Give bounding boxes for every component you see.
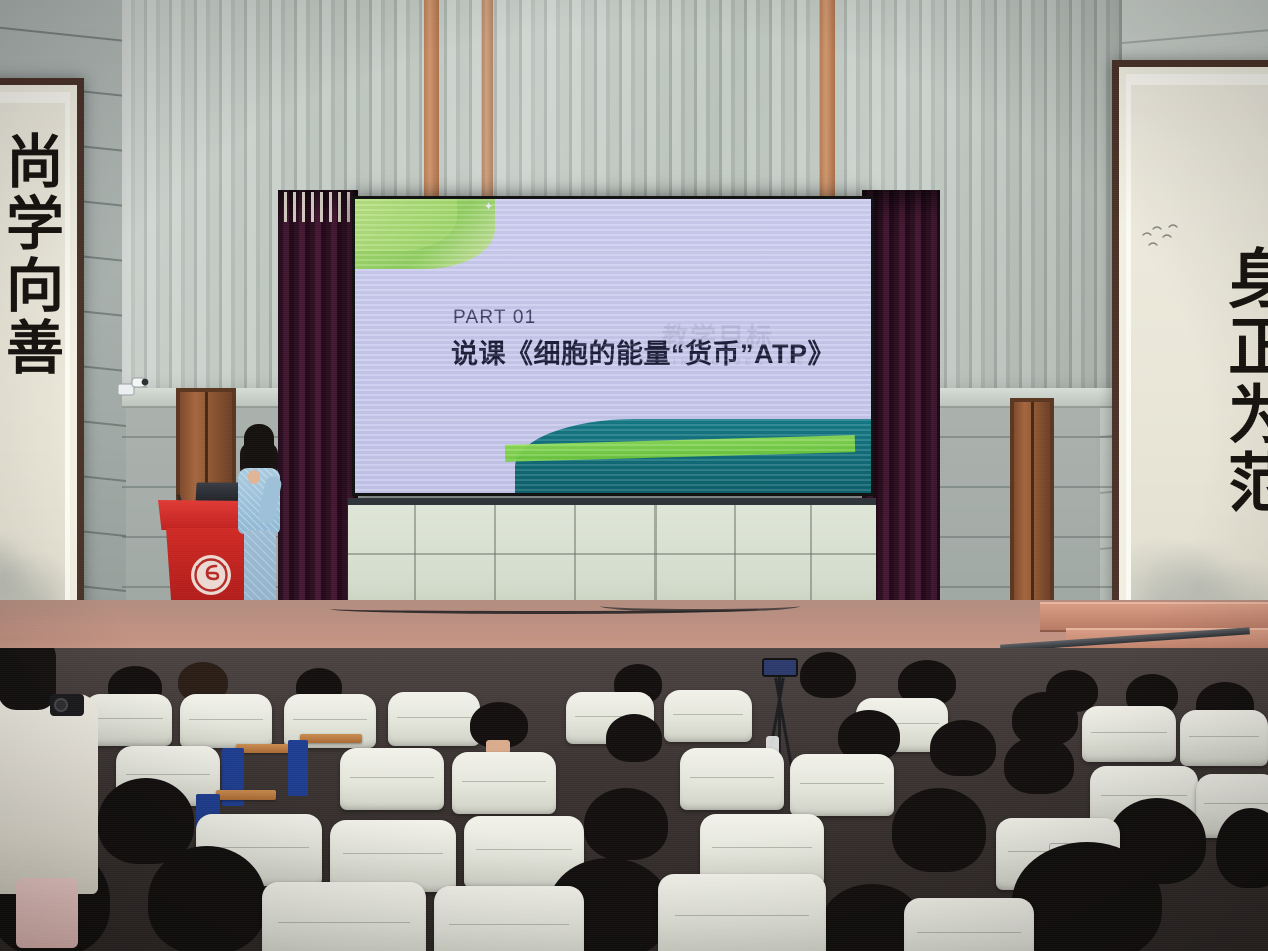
presentation-slide[interactable]: 教学目标 TEACHING OBJECTIVES PART 01 说课《细胞的能… — [355, 199, 871, 493]
audience-head — [148, 846, 266, 951]
slide-part-label: PART 01 — [453, 307, 536, 329]
led-screen[interactable]: 教学目标 TEACHING OBJECTIVES PART 01 说课《细胞的能… — [352, 196, 874, 496]
flying-birds-icon — [1139, 223, 1199, 263]
photographer — [0, 648, 100, 951]
calligraphy-scroll-left: 尚学向善 — [0, 78, 84, 622]
ceiling-security-camera-icon — [118, 376, 152, 398]
photographer-hair — [0, 648, 56, 710]
fold-down-tray[interactable] — [236, 744, 292, 753]
mouse-cursor-icon: ✦ — [484, 203, 490, 211]
photographer-lower — [16, 878, 78, 948]
seat[interactable] — [1180, 710, 1268, 766]
seat[interactable] — [388, 692, 480, 746]
fold-down-tray[interactable] — [216, 790, 276, 800]
seat[interactable] — [790, 754, 894, 816]
seat[interactable] — [262, 882, 426, 951]
scroll-left-text: 尚学向善 — [0, 131, 59, 379]
camera[interactable] — [50, 694, 84, 716]
scroll-paper: 尚学向善 — [0, 103, 65, 605]
seat[interactable] — [680, 748, 784, 810]
school-crest-icon — [190, 554, 232, 596]
recording-phone[interactable] — [762, 658, 798, 677]
scroll-right-text: 身正为范 — [1193, 245, 1268, 517]
presenter-hand — [248, 470, 260, 484]
seat[interactable] — [452, 752, 556, 814]
seat[interactable] — [904, 898, 1034, 951]
stage-curtain-left — [278, 190, 358, 620]
audience-head — [606, 714, 662, 762]
audience-head — [800, 652, 856, 698]
calligraphy-scroll-right: 身正为范 — [1112, 60, 1268, 634]
audience-head — [930, 720, 996, 776]
audience-head — [1004, 736, 1074, 794]
curtain-hooks — [284, 192, 354, 222]
audience-head — [584, 788, 668, 860]
door-split — [1031, 402, 1034, 616]
scroll-paper: 身正为范 — [1131, 85, 1268, 617]
audience-seating — [0, 648, 1268, 951]
seat[interactable] — [1082, 706, 1176, 762]
audience-head — [1012, 842, 1162, 951]
slide-title: 说课《细胞的能量“货币”ATP》 — [451, 332, 835, 371]
presenter-hair-top — [244, 424, 274, 466]
fold-down-tray[interactable] — [300, 734, 362, 743]
ink-wash-landscape — [0, 374, 65, 605]
seat[interactable] — [340, 748, 444, 810]
photographer-shirt — [0, 694, 98, 894]
stage-front-tile-wall — [348, 498, 876, 615]
seat[interactable] — [664, 690, 752, 742]
seat[interactable] — [180, 694, 272, 748]
auditorium-photo: 尚学向善 身正为范 教学目标 TEACHING OBJECTIVES PART … — [0, 0, 1268, 951]
audience-head — [892, 788, 986, 872]
seat[interactable] — [658, 874, 826, 951]
stage-door-right[interactable] — [1010, 398, 1054, 620]
seat-side-panel — [288, 740, 308, 796]
seat[interactable] — [434, 886, 584, 951]
floor-cable — [600, 600, 800, 612]
